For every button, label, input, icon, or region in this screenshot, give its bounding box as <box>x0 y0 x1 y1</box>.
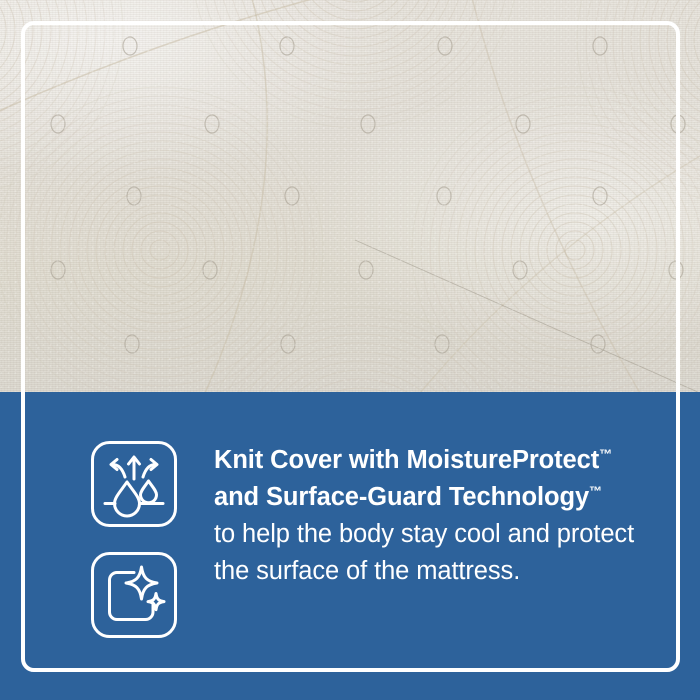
caption-line-3-text: to help the body stay cool and protect <box>214 520 634 548</box>
feature-icon-column <box>90 440 178 639</box>
caption-line-3: to help the body stay cool and protect <box>214 516 634 553</box>
feature-caption: Knit Cover with MoistureProtect™ and Sur… <box>214 442 634 590</box>
caption-line-2-text: and Surface-Guard Technology <box>214 483 589 511</box>
trademark-symbol: ™ <box>599 447 612 462</box>
feature-content-row: Knit Cover with MoistureProtect™ and Sur… <box>0 392 700 700</box>
caption-line-1-text: Knit Cover with MoistureProtect <box>214 446 599 474</box>
caption-line-4: the surface of the mattress. <box>214 553 634 590</box>
surface-guard-sparkle-icon <box>90 551 178 639</box>
caption-line-1: Knit Cover with MoistureProtect™ <box>214 442 634 479</box>
trademark-symbol: ™ <box>589 484 602 499</box>
moisture-wicking-droplets-icon <box>90 440 178 528</box>
quilting-pattern <box>0 0 700 393</box>
caption-line-2: and Surface-Guard Technology™ <box>214 479 634 516</box>
caption-line-4-text: the surface of the mattress. <box>214 557 520 585</box>
mattress-cover-texture-image <box>0 0 700 393</box>
product-feature-card: Knit Cover with MoistureProtect™ and Sur… <box>0 0 700 700</box>
